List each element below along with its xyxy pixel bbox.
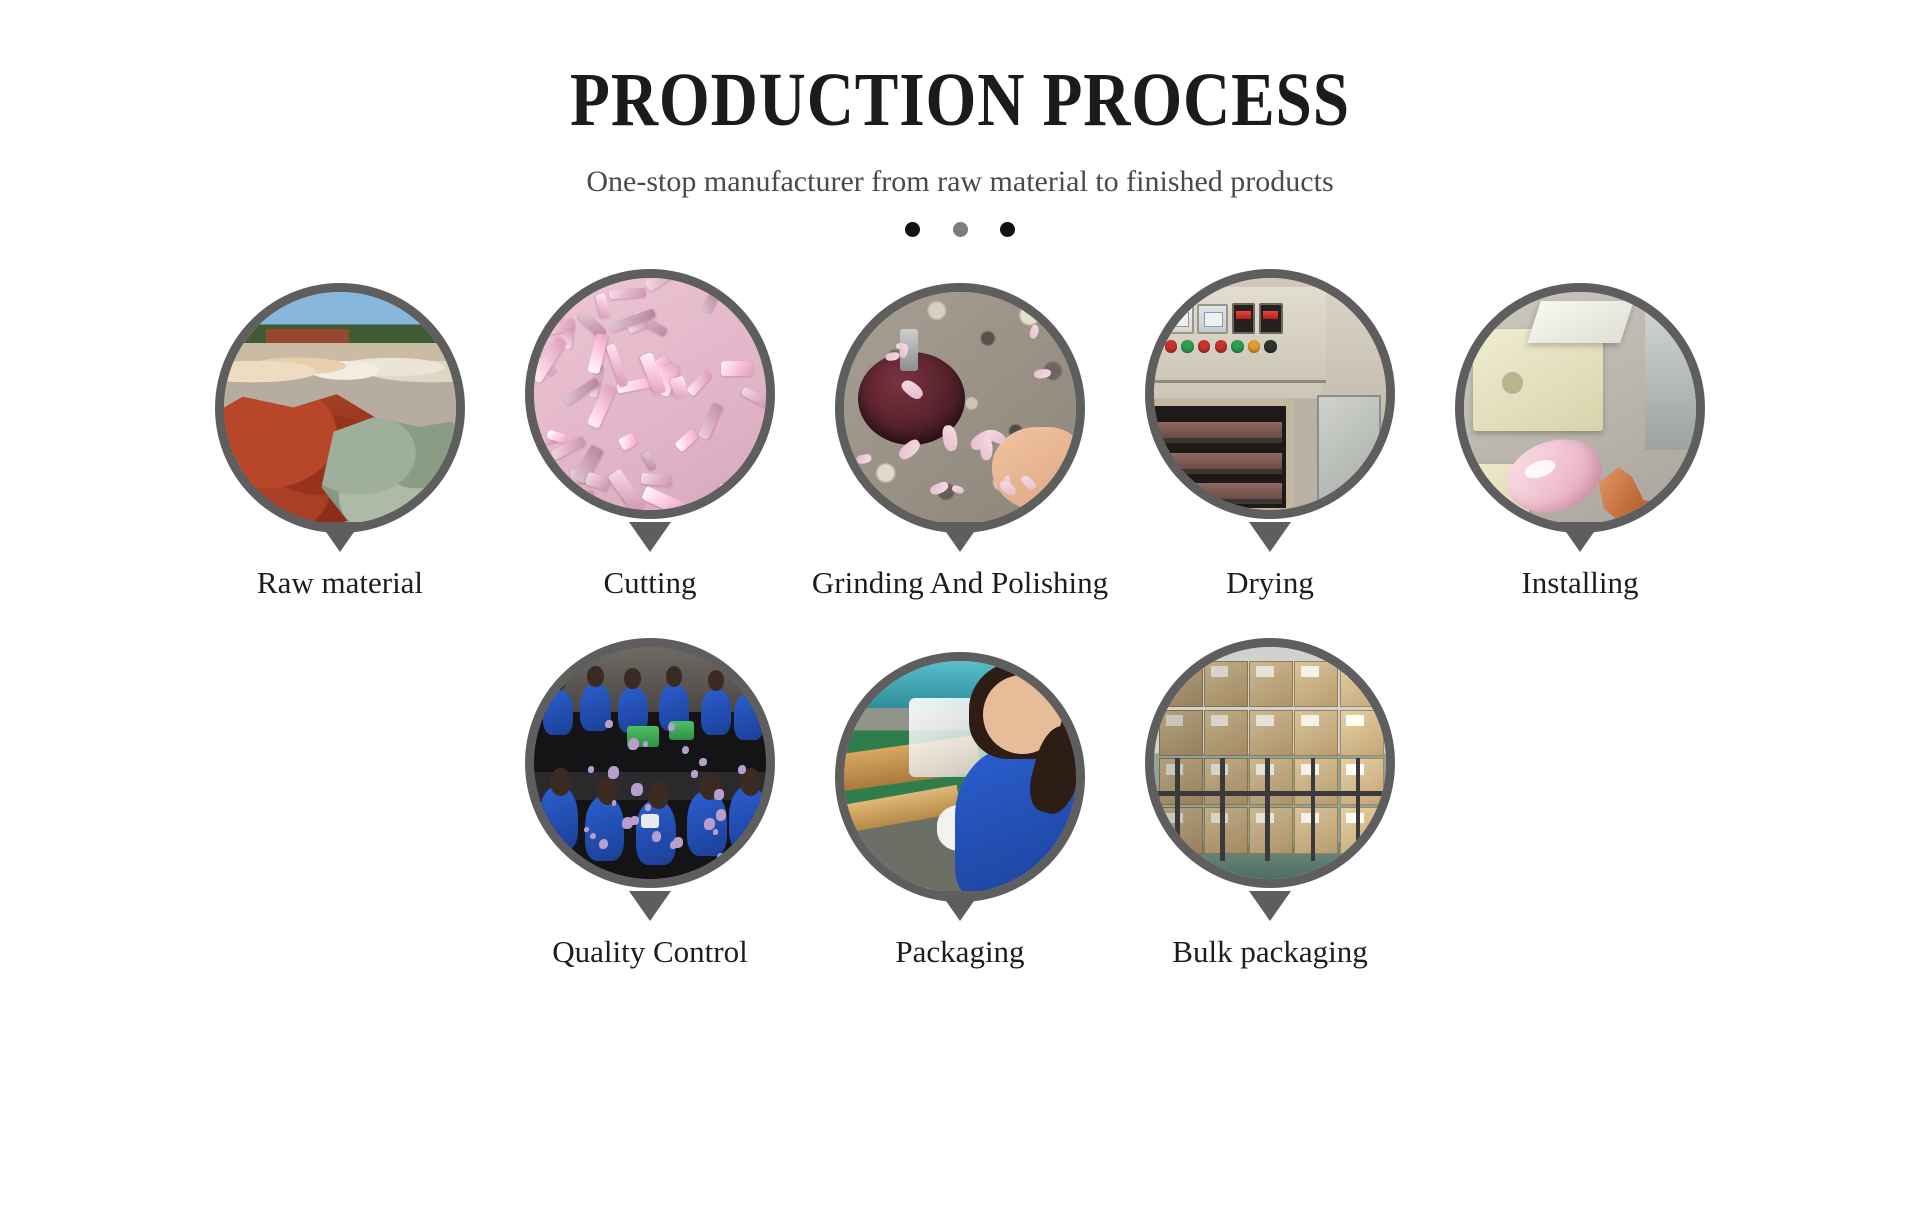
pointer-triangle-icon [1249,522,1291,552]
step-label: Drying [1226,566,1314,600]
process-step-drying[interactable]: Drying [1143,283,1398,600]
dot-icon-3 [1000,222,1015,237]
process-step-installing[interactable]: Installing [1453,283,1708,600]
installing-photo [1455,283,1705,533]
step-label: Raw material [257,566,423,600]
process-step-raw-material[interactable]: Raw material [213,283,468,600]
pointer-triangle-icon [939,522,981,552]
process-step-packaging[interactable]: Packaging [833,652,1088,969]
raw-material-photo [215,283,465,533]
grinding-polishing-photo [835,283,1085,533]
dot-icon-1 [905,222,920,237]
step-label: Bulk packaging [1172,935,1367,969]
pointer-triangle-icon [939,891,981,921]
pointer-triangle-icon [629,891,671,921]
pointer-triangle-icon [629,522,671,552]
step-label: Cutting [603,566,696,600]
process-row-2: Quality Control Packaging [0,652,1920,969]
pointer-triangle-icon [319,522,361,552]
packaging-photo [835,652,1085,902]
pointer-triangle-icon [1559,522,1601,552]
process-step-quality-control[interactable]: Quality Control [523,652,778,969]
production-process-infographic: PRODUCTION PROCESS One-stop manufacturer… [0,0,1920,1212]
process-step-cutting[interactable]: Cutting [523,283,778,600]
step-label: Quality Control [552,935,747,969]
decorative-dots [905,222,1015,237]
step-label: Packaging [895,935,1024,969]
page-subtitle: One-stop manufacturer from raw material … [0,164,1920,200]
step-label: Installing [1521,566,1638,600]
quality-control-photo [525,638,775,888]
process-step-grinding-polishing[interactable]: Grinding And Polishing [833,283,1088,600]
step-label: Grinding And Polishing [812,566,1108,600]
pointer-triangle-icon [1249,891,1291,921]
bulk-packaging-photo [1145,638,1395,888]
drying-oven-photo [1145,269,1395,519]
process-row-1: Raw material Cutting Grinding And Polish… [0,283,1920,600]
page-title: PRODUCTION PROCESS [134,62,1785,138]
header: PRODUCTION PROCESS One-stop manufacturer… [0,0,1920,237]
dot-icon-2 [953,222,968,237]
process-step-bulk-packaging[interactable]: Bulk packaging [1143,652,1398,969]
cutting-photo [525,269,775,519]
